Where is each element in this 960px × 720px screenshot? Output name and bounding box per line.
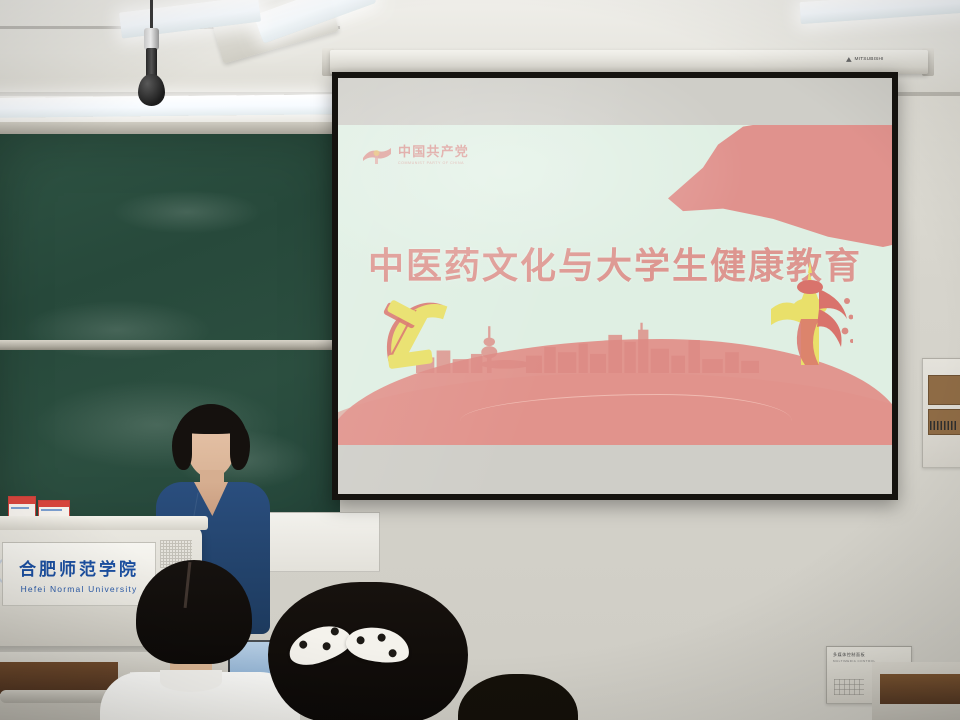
projection-screen-case xyxy=(330,50,928,74)
party-logo: 中国共产党 COMMUNIST PARTY OF CHINA xyxy=(362,145,469,166)
screen-brand-label: MITSUBISHI xyxy=(855,56,884,62)
red-flag-graphic xyxy=(668,125,892,247)
party-flag-mark-icon xyxy=(362,145,392,166)
panel-subtitle: MULTIMEDIA CONTROL xyxy=(833,659,876,663)
hammer-sickle-emblem-icon xyxy=(371,287,463,383)
microphone-icon xyxy=(138,74,165,106)
breaker-box[interactable] xyxy=(922,358,960,468)
student xyxy=(458,674,578,720)
desk-wood-surface xyxy=(880,674,960,704)
projection-screen-frame: 中国共产党 COMMUNIST PARTY OF CHINA 中医药文化与大学生… xyxy=(332,72,898,500)
fluorescent-light-icon xyxy=(0,94,340,118)
student xyxy=(268,582,478,720)
lectern-top-surface xyxy=(0,516,208,530)
city-skyline-icon xyxy=(416,321,759,373)
projection-screen-surface: 中国共产党 COMMUNIST PARTY OF CHINA 中医药文化与大学生… xyxy=(338,78,892,494)
microphone-mount xyxy=(144,28,159,50)
party-logo-cn: 中国共产党 xyxy=(398,146,469,159)
monument-graphic-icon xyxy=(761,261,853,379)
microphone-cord xyxy=(150,0,153,30)
panel-grid-icon xyxy=(834,679,864,695)
chalkboard-divider-rail xyxy=(0,340,340,350)
chalkboard-top-trim xyxy=(0,122,340,134)
party-logo-en: COMMUNIST PARTY OF CHINA xyxy=(398,162,469,166)
classroom-photo: MITSUBISHI 中国共产党 COMMUNIST PARTY OF CHIN… xyxy=(0,0,960,720)
panel-title: 多媒体控制面板 xyxy=(833,652,865,658)
student xyxy=(108,560,288,720)
mitsubishi-triangle-icon xyxy=(846,57,852,62)
mitsubishi-brand-logo: MITSUBISHI xyxy=(846,56,884,62)
presentation-slide: 中国共产党 COMMUNIST PARTY OF CHINA 中医药文化与大学生… xyxy=(338,125,892,445)
